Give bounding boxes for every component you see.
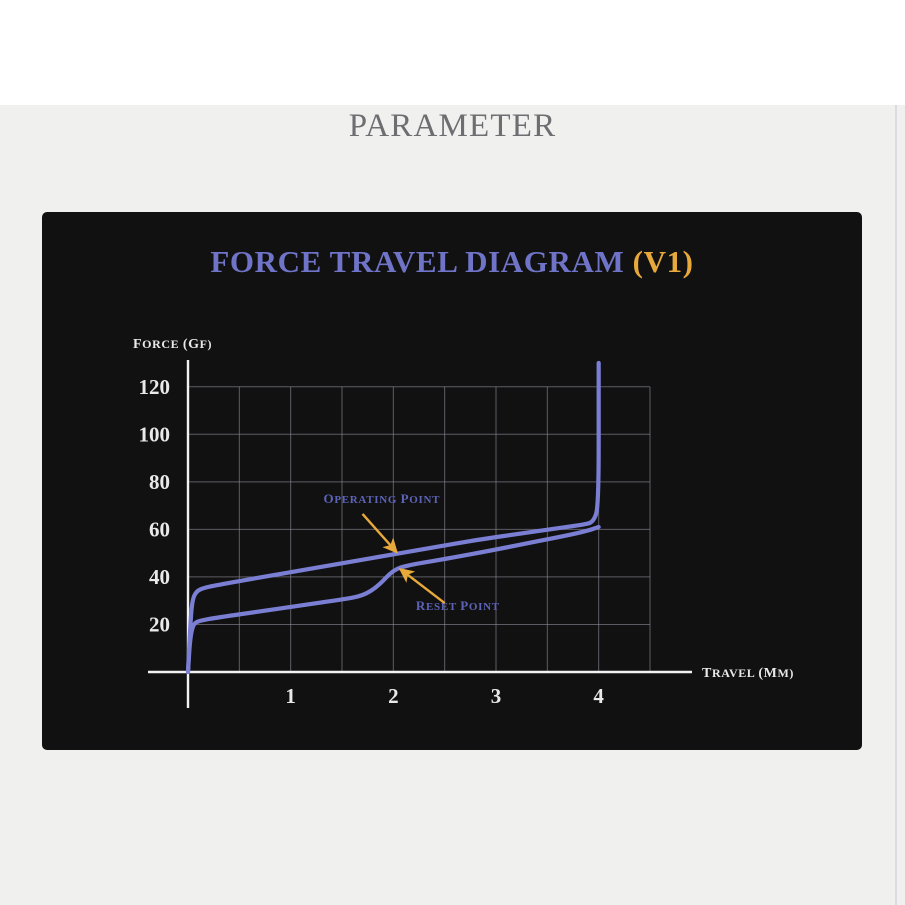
chart-axis-titles: FORCE (GF)TRAVEL (MM) (133, 337, 794, 681)
x-tick-label: 2 (388, 684, 399, 708)
x-tick-label: 4 (593, 684, 604, 708)
annotation-label: OPERATING POINT (324, 491, 441, 506)
axis-title: TRAVEL (MM) (702, 666, 794, 681)
axis-title: FORCE (GF) (133, 337, 212, 352)
slide-right-edge (895, 105, 897, 905)
page-title: PARAMETER (0, 108, 905, 145)
chart-axes (148, 360, 692, 708)
annotation-label: RESET POINT (416, 598, 500, 613)
y-tick-label: 80 (149, 470, 170, 494)
y-tick-label: 60 (149, 517, 170, 541)
y-tick-label: 20 (149, 612, 170, 636)
x-tick-label: 1 (285, 684, 296, 708)
annotation-arrow (363, 514, 397, 552)
chart-gridlines (188, 387, 650, 672)
y-tick-label: 40 (149, 565, 170, 589)
x-tick-label: 3 (491, 684, 502, 708)
top-white-band (0, 0, 905, 105)
y-tick-label: 120 (139, 375, 171, 399)
y-tick-label: 100 (139, 422, 171, 446)
chart-panel: FORCE TRAVEL DIAGRAM (V1) 20406080100120… (42, 212, 862, 750)
force-travel-chart: 204060801001201234 OPERATING POINTRESET … (42, 212, 862, 750)
